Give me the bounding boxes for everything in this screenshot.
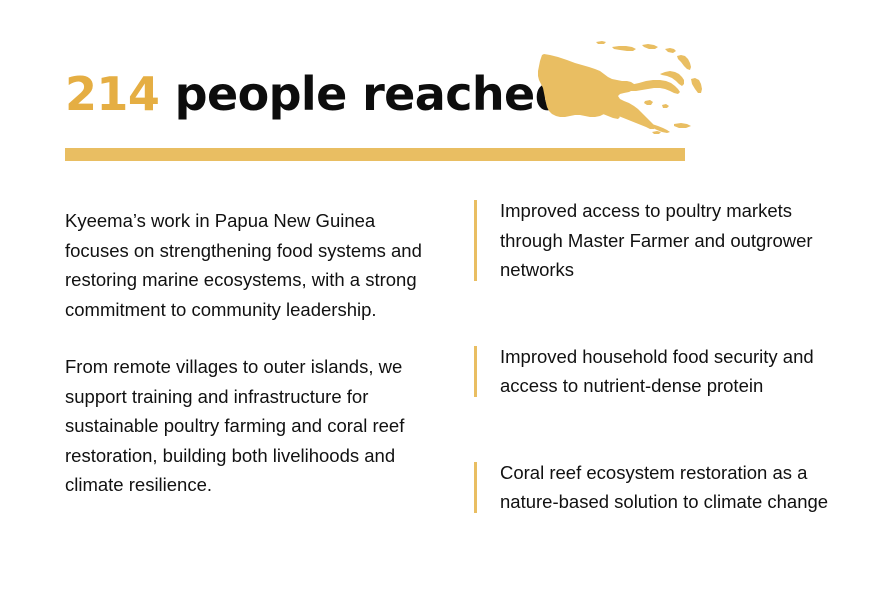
highlight-text: Coral reef ecosystem restoration as a na… <box>500 458 834 517</box>
highlight-text: Improved access to poultry markets throu… <box>500 196 834 285</box>
page-title: 214 people reached <box>65 66 567 122</box>
highlight-item: Coral reef ecosystem restoration as a na… <box>474 458 834 517</box>
description-column: Kyeema’s work in Papua New Guinea focuse… <box>65 206 437 500</box>
accent-divider <box>65 148 685 161</box>
description-paragraph-2: From remote villages to outer islands, w… <box>65 352 437 500</box>
highlight-item: Improved access to poultry markets throu… <box>474 196 834 285</box>
papua-new-guinea-map-icon <box>534 36 706 142</box>
slide-canvas: 214 people reached <box>0 0 878 596</box>
highlight-accent-bar <box>474 462 477 513</box>
description-paragraph-1: Kyeema’s work in Papua New Guinea focuse… <box>65 206 437 324</box>
body-columns: Kyeema’s work in Papua New Guinea focuse… <box>0 196 878 576</box>
reach-label: people reached <box>159 67 567 121</box>
highlight-item: Improved household food security and acc… <box>474 342 834 401</box>
highlights-column: Improved access to poultry markets throu… <box>474 196 834 517</box>
highlight-text: Improved household food security and acc… <box>500 342 834 401</box>
reach-count: 214 <box>65 67 159 121</box>
highlight-accent-bar <box>474 346 477 397</box>
highlight-accent-bar <box>474 200 477 281</box>
